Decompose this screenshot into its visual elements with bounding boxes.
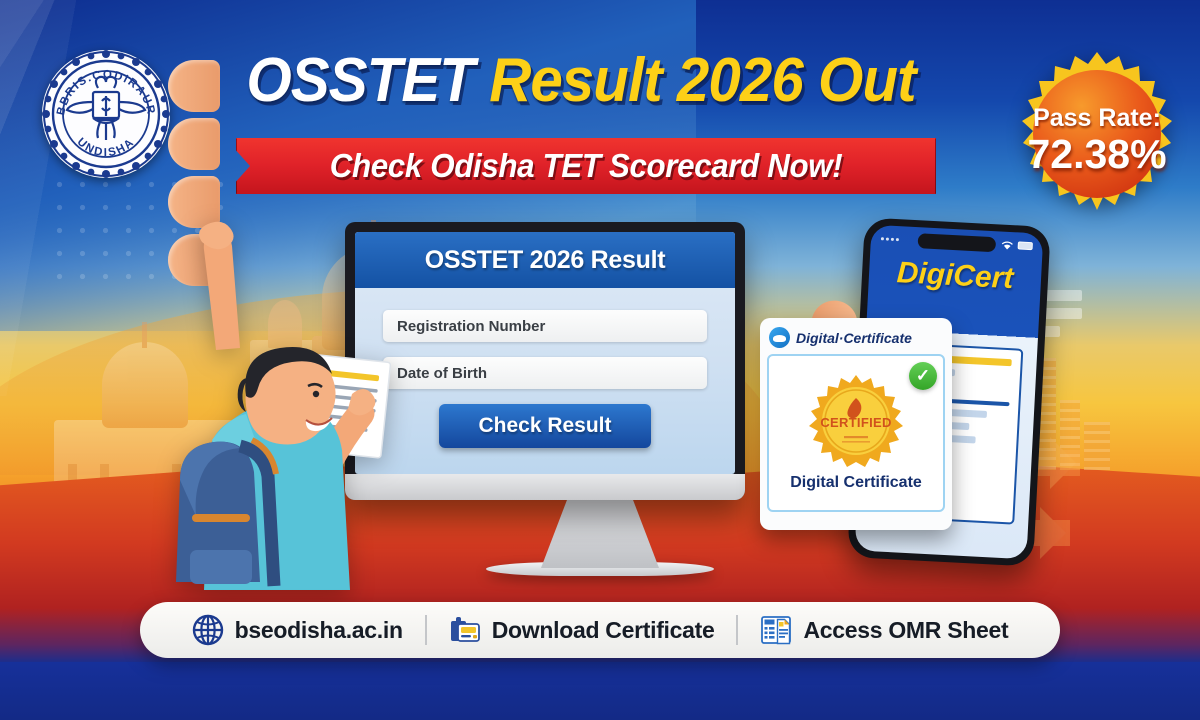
green-check-icon: ✓ bbox=[909, 362, 937, 390]
page-title: OSSTET Result 2026 Out bbox=[219, 48, 943, 114]
check-result-label: Check Result bbox=[478, 414, 611, 438]
badge-label: Pass Rate: bbox=[1033, 104, 1161, 133]
download-certificate-link[interactable]: Download Certificate bbox=[427, 614, 737, 646]
certificate-brand-icon bbox=[769, 327, 790, 348]
pass-rate-badge: Pass Rate: 72.38% bbox=[1006, 50, 1188, 232]
headline-yellow: Result 2026 Out bbox=[489, 46, 915, 115]
ribbon-label: Check Odisha TET Scorecard Now! bbox=[254, 138, 919, 194]
osstet-result-banner: NBBRIS.CODIRAURR UNDISHA OSSTET Result 2… bbox=[0, 0, 1200, 720]
download-certificate-label: Download Certificate bbox=[492, 617, 715, 644]
bottom-color-band bbox=[0, 662, 1200, 720]
certified-seal-text: CERTIFIED bbox=[808, 374, 904, 470]
check-glyph: ✓ bbox=[916, 366, 930, 386]
date-of-birth-input[interactable]: Date of Birth bbox=[383, 357, 707, 389]
certified-seal-icon: CERTIFIED bbox=[808, 374, 904, 470]
omr-sheet-icon bbox=[760, 614, 792, 646]
celebrating-student-illustration bbox=[120, 190, 420, 590]
bottom-links-bar: bseodisha.ac.in Download Certificate bbox=[140, 602, 1060, 658]
globe-icon bbox=[192, 614, 224, 646]
subtitle-ribbon: Check Odisha TET Scorecard Now! bbox=[236, 138, 936, 194]
certificate-caption: Digital Certificate bbox=[790, 474, 922, 492]
access-omr-sheet-label: Access OMR Sheet bbox=[803, 617, 1008, 644]
website-link[interactable]: bseodisha.ac.in bbox=[170, 614, 425, 646]
status-dots-icon bbox=[881, 237, 899, 241]
check-result-button[interactable]: Check Result bbox=[439, 404, 651, 448]
certificate-header-title: Digital·Certificate bbox=[796, 330, 912, 346]
registration-number-input[interactable]: Registration Number bbox=[383, 310, 707, 342]
board-seal-emblem-icon: NBBRIS.CODIRAURR UNDISHA bbox=[40, 48, 172, 180]
wifi-icon bbox=[1001, 239, 1015, 251]
battery-icon bbox=[1018, 241, 1033, 250]
digital-certificate-card: Digital·Certificate ✓ CERTIFIED bbox=[760, 318, 952, 530]
badge-value: 72.38% bbox=[1027, 131, 1166, 178]
phone-app-title: DigiCert bbox=[868, 255, 1042, 298]
website-label: bseodisha.ac.in bbox=[235, 617, 403, 644]
certificate-card-icon bbox=[449, 614, 481, 646]
access-omr-sheet-link[interactable]: Access OMR Sheet bbox=[738, 614, 1030, 646]
headline-white: OSSTET bbox=[246, 46, 474, 115]
screen-title: OSSTET 2026 Result bbox=[425, 246, 666, 275]
